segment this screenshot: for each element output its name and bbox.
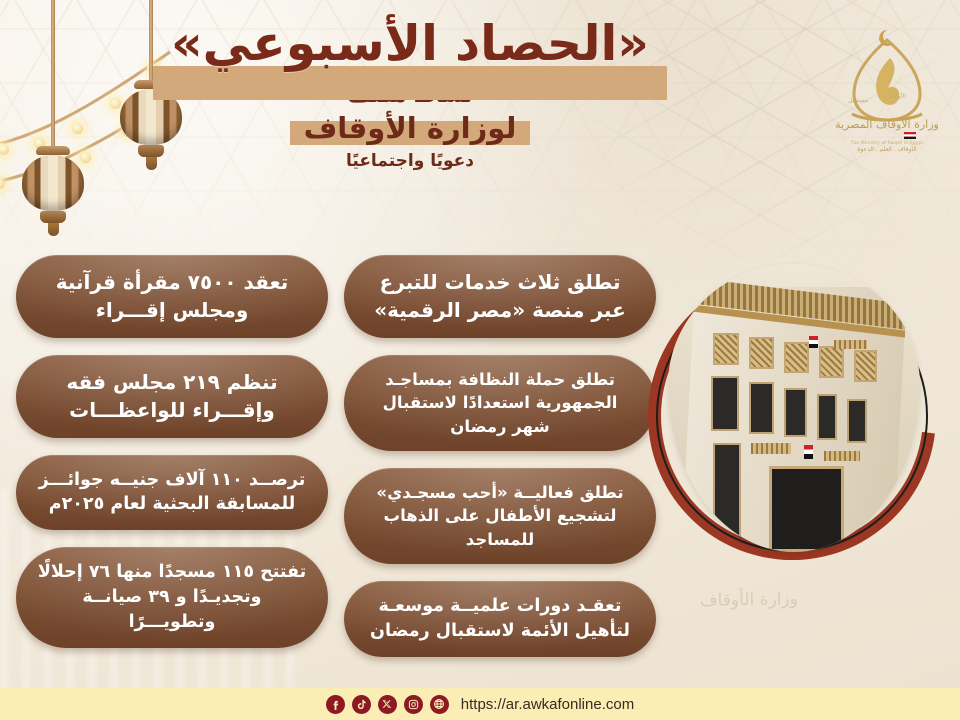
achievement-pill[interactable]: تطلق ثلاث خدمات للتبرع عبر منصة «مصر الر… bbox=[344, 255, 656, 338]
ministry-building-photo-block bbox=[648, 258, 948, 578]
page-title: «الحصاد الأسبوعي» bbox=[171, 18, 649, 69]
subtitle-line-3: دعويًا واجتماعيًا bbox=[0, 151, 820, 171]
building-illustration bbox=[668, 264, 920, 552]
website-url[interactable]: https://ar.awkafonline.com bbox=[461, 696, 634, 713]
achievement-pill[interactable]: تعقـد دورات علميــة موسعـة لتأهيل الأئمة… bbox=[344, 581, 656, 657]
achievement-pill[interactable]: تفتتح ١١٥ مسجدًا منها ٧٦ إحلالًا وتجديـد… bbox=[16, 547, 328, 648]
svg-text:الأوقاف: الأوقاف bbox=[887, 92, 906, 100]
instagram-icon[interactable] bbox=[404, 695, 423, 714]
middle-column: تطلق ثلاث خدمات للتبرع عبر منصة «مصر الر… bbox=[344, 255, 656, 674]
achievement-pill[interactable]: تنظم ٢١٩ مجلس فقه وإقـــراء للواعظـــات bbox=[16, 355, 328, 438]
ministry-logo: مستقبل الأوقاف وزارة الأوقاف المصرية The… bbox=[828, 22, 946, 172]
tiktok-icon[interactable] bbox=[352, 695, 371, 714]
title-block: «الحصاد الأسبوعي» bbox=[171, 18, 649, 69]
facebook-icon[interactable] bbox=[326, 695, 345, 714]
svg-text:مستقبل: مستقبل bbox=[848, 97, 868, 104]
subtitle-line-2: لوزارة الأوقاف bbox=[304, 111, 517, 145]
background-watermark: وزارة الأوقاف bbox=[700, 589, 798, 611]
achievement-pill[interactable]: ترصــد ١١٠ آلاف جنيــه جوائـــز للمسابقة… bbox=[16, 455, 328, 531]
left-column: تعقد ٧٥٠٠ مقرأة قرآنية ومجلس إقـــراء تن… bbox=[16, 255, 328, 665]
subtitle-block-2: لوزارة الأوقاف bbox=[304, 111, 517, 145]
svg-text:وزارة الأوقاف المصرية: وزارة الأوقاف المصرية bbox=[835, 117, 939, 131]
mosque-dome-logo-icon: مستقبل الأوقاف وزارة الأوقاف المصرية bbox=[828, 22, 946, 140]
achievement-pill[interactable]: تعقد ٧٥٠٠ مقرأة قرآنية ومجلس إقـــراء bbox=[16, 255, 328, 338]
x-icon[interactable] bbox=[378, 695, 397, 714]
infographic-poster: وزارة الأوقاف bbox=[0, 0, 960, 720]
achievement-pill[interactable]: تطلق حملة النظافة بمساجـد الجمهورية استع… bbox=[344, 355, 656, 451]
ministry-building-photo bbox=[668, 264, 920, 552]
logo-tagline-arabic: الأوقاف . العلم . الدعوة bbox=[828, 146, 946, 153]
achievement-pill[interactable]: تطلق فعاليــة «أحب مسجـدي» لتشجيع الأطفا… bbox=[344, 468, 656, 564]
poster-header: «الحصاد الأسبوعي» نشاط مُكثف لوزارة الأو… bbox=[0, 18, 820, 171]
footer-bar: https://ar.awkafonline.com bbox=[0, 688, 960, 720]
globe-icon[interactable] bbox=[430, 695, 449, 714]
